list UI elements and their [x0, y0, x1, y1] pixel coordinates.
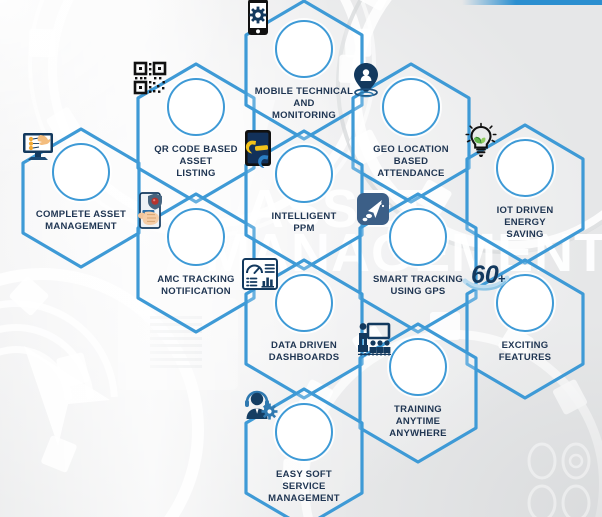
- hex-label: EASY SOFT SERVICE MANAGEMENT: [238, 469, 370, 505]
- hex-easy-soft-service-management[interactable]: EASY SOFT SERVICE MANAGEMENT: [241, 386, 367, 517]
- mobile-gear-icon: [275, 20, 333, 78]
- hex-intelligent-ppm[interactable]: INTELLIGENT PPM: [241, 128, 367, 272]
- hex-complete-asset-management[interactable]: COMPLETE ASSET MANAGEMENT: [18, 126, 144, 270]
- hex-label: EXCITING FEATURES: [463, 340, 587, 364]
- svg-text:+: +: [498, 271, 506, 286]
- svg-text:60: 60: [471, 261, 499, 289]
- monitor-hand-nodes-icon: [52, 143, 110, 201]
- hand-phone-inspect-icon: [167, 208, 225, 266]
- dashboard-chart-icon: [275, 274, 333, 332]
- hex-label: IOT DRIVEN ENERGY SAVING: [463, 205, 587, 241]
- hex-training-anytime-anywhere[interactable]: TRAINING ANYTIME ANYWHERE: [355, 321, 481, 465]
- hex-label: QR CODE BASED ASSET LISTING: [134, 144, 258, 180]
- gps-navigation-arrow-icon: [389, 208, 447, 266]
- hex-label: TRAINING ANYTIME ANYWHERE: [356, 404, 480, 440]
- eco-lightbulb-icon: [496, 139, 554, 197]
- hexagon-grid: COMPLETE ASSET MANAGEMENT: [0, 0, 602, 517]
- qr-code-icon: [167, 78, 225, 136]
- hex-data-driven-dashboards[interactable]: DATA DRIVEN DASHBOARDS: [241, 257, 367, 401]
- classroom-training-icon: [389, 338, 447, 396]
- hex-label: DATA DRIVEN DASHBOARDS: [238, 340, 370, 364]
- infographic-canvas: ASSET MANAGEMENT: [0, 0, 602, 517]
- support-agent-gear-icon: [275, 403, 333, 461]
- hex-label: INTELLIGENT PPM: [242, 211, 366, 235]
- tablet-wrench-icon: [275, 145, 333, 203]
- map-pin-person-icon: [382, 78, 440, 136]
- hex-label: COMPLETE ASSET MANAGEMENT: [19, 209, 143, 233]
- sixty-plus-badge-icon: 60 +: [496, 274, 554, 332]
- hex-label: AMC TRACKING NOTIFICATION: [134, 274, 258, 298]
